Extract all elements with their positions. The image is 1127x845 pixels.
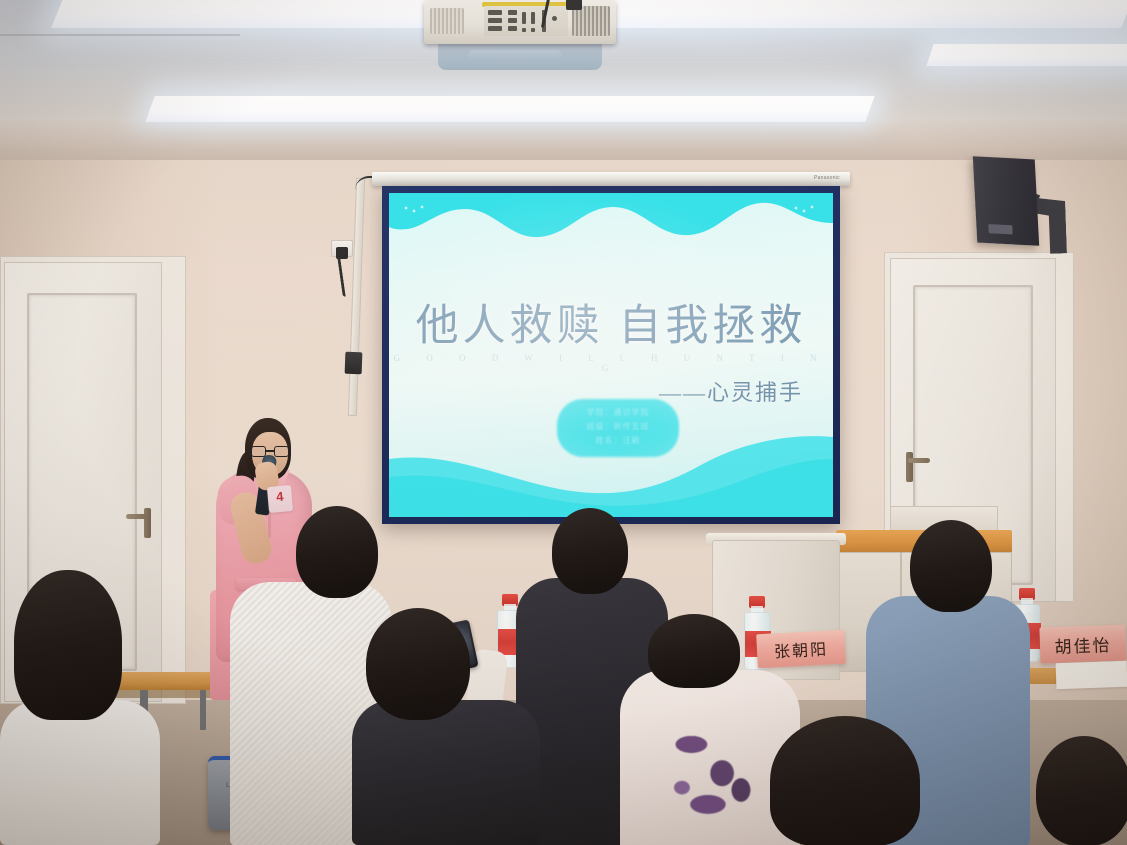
audience-head (910, 520, 992, 612)
paper-sheet (1056, 661, 1127, 689)
slide-info-text-group: 学院：通识学院 班级：新传五班 姓名：汪颖 (557, 399, 679, 457)
door-lever-right[interactable] (908, 458, 930, 463)
door-lever-left[interactable] (126, 514, 148, 519)
info-line-class: 班级：新传五班 (557, 421, 679, 432)
slide-wave-top-icon (389, 193, 833, 257)
ceiling-seam (0, 34, 240, 36)
audience-head (14, 570, 122, 720)
slide-dot-decoration-icon (403, 205, 429, 215)
ceiling-light-strip (926, 44, 1127, 66)
door-handle-left[interactable] (144, 508, 151, 538)
projector-lens (468, 50, 562, 62)
badge-number-text: 4 (267, 488, 292, 505)
projector-vent-left-icon (430, 8, 464, 34)
audience-head (296, 506, 378, 598)
audience-head (552, 508, 628, 594)
classroom-photo-scene: Panasonic 他人救赎 自我拯救 G O O D W I L L H U … (0, 0, 1127, 845)
audience-torso (0, 700, 160, 845)
speaker-badge (988, 224, 1012, 234)
slide-canvas: 他人救赎 自我拯救 G O O D W I L L H U N T I N G … (389, 193, 833, 517)
placard-name-text: 张朝阳 (773, 636, 828, 663)
projection-screen-housing: Panasonic (372, 172, 850, 186)
audience-head (1036, 736, 1127, 845)
audience-torso (352, 700, 540, 845)
ceiling-light-strip (145, 96, 874, 122)
projector-body (424, 0, 616, 44)
projector-control-panel (484, 6, 568, 36)
shirt-graphic-print (656, 718, 774, 838)
ceiling-projector (424, 0, 616, 72)
audience-head (770, 716, 920, 845)
audience-head (366, 608, 470, 720)
slide-title: 他人救赎 自我拯救 (389, 291, 833, 353)
wall-speaker (973, 156, 1039, 246)
projector-vent-icon (572, 6, 610, 36)
info-line-college: 学院：通识学院 (557, 407, 679, 418)
door-handle-right[interactable] (906, 452, 913, 482)
table-leg (200, 690, 206, 730)
projector-mount (566, 0, 582, 10)
conduit-switch-box[interactable] (345, 352, 363, 375)
number-badge: 4 (267, 485, 293, 513)
slide-subtitle-english: G O O D W I L L H U N T I N G (389, 353, 833, 373)
screen-brand-label: Panasonic (814, 175, 840, 181)
name-placard-right: 胡佳怡 (1039, 625, 1126, 664)
placard-name-text: 胡佳怡 (1054, 631, 1112, 658)
info-line-name: 姓名：汪颖 (557, 435, 679, 446)
slide-subtitle-chinese: ——心灵捕手 (659, 375, 803, 407)
audience-head (648, 614, 740, 688)
projection-screen: 他人救赎 自我拯救 G O O D W I L L H U N T I N G … (382, 186, 840, 524)
slide-dot-decoration-icon (793, 205, 819, 215)
name-placard-left: 张朝阳 (756, 630, 846, 669)
